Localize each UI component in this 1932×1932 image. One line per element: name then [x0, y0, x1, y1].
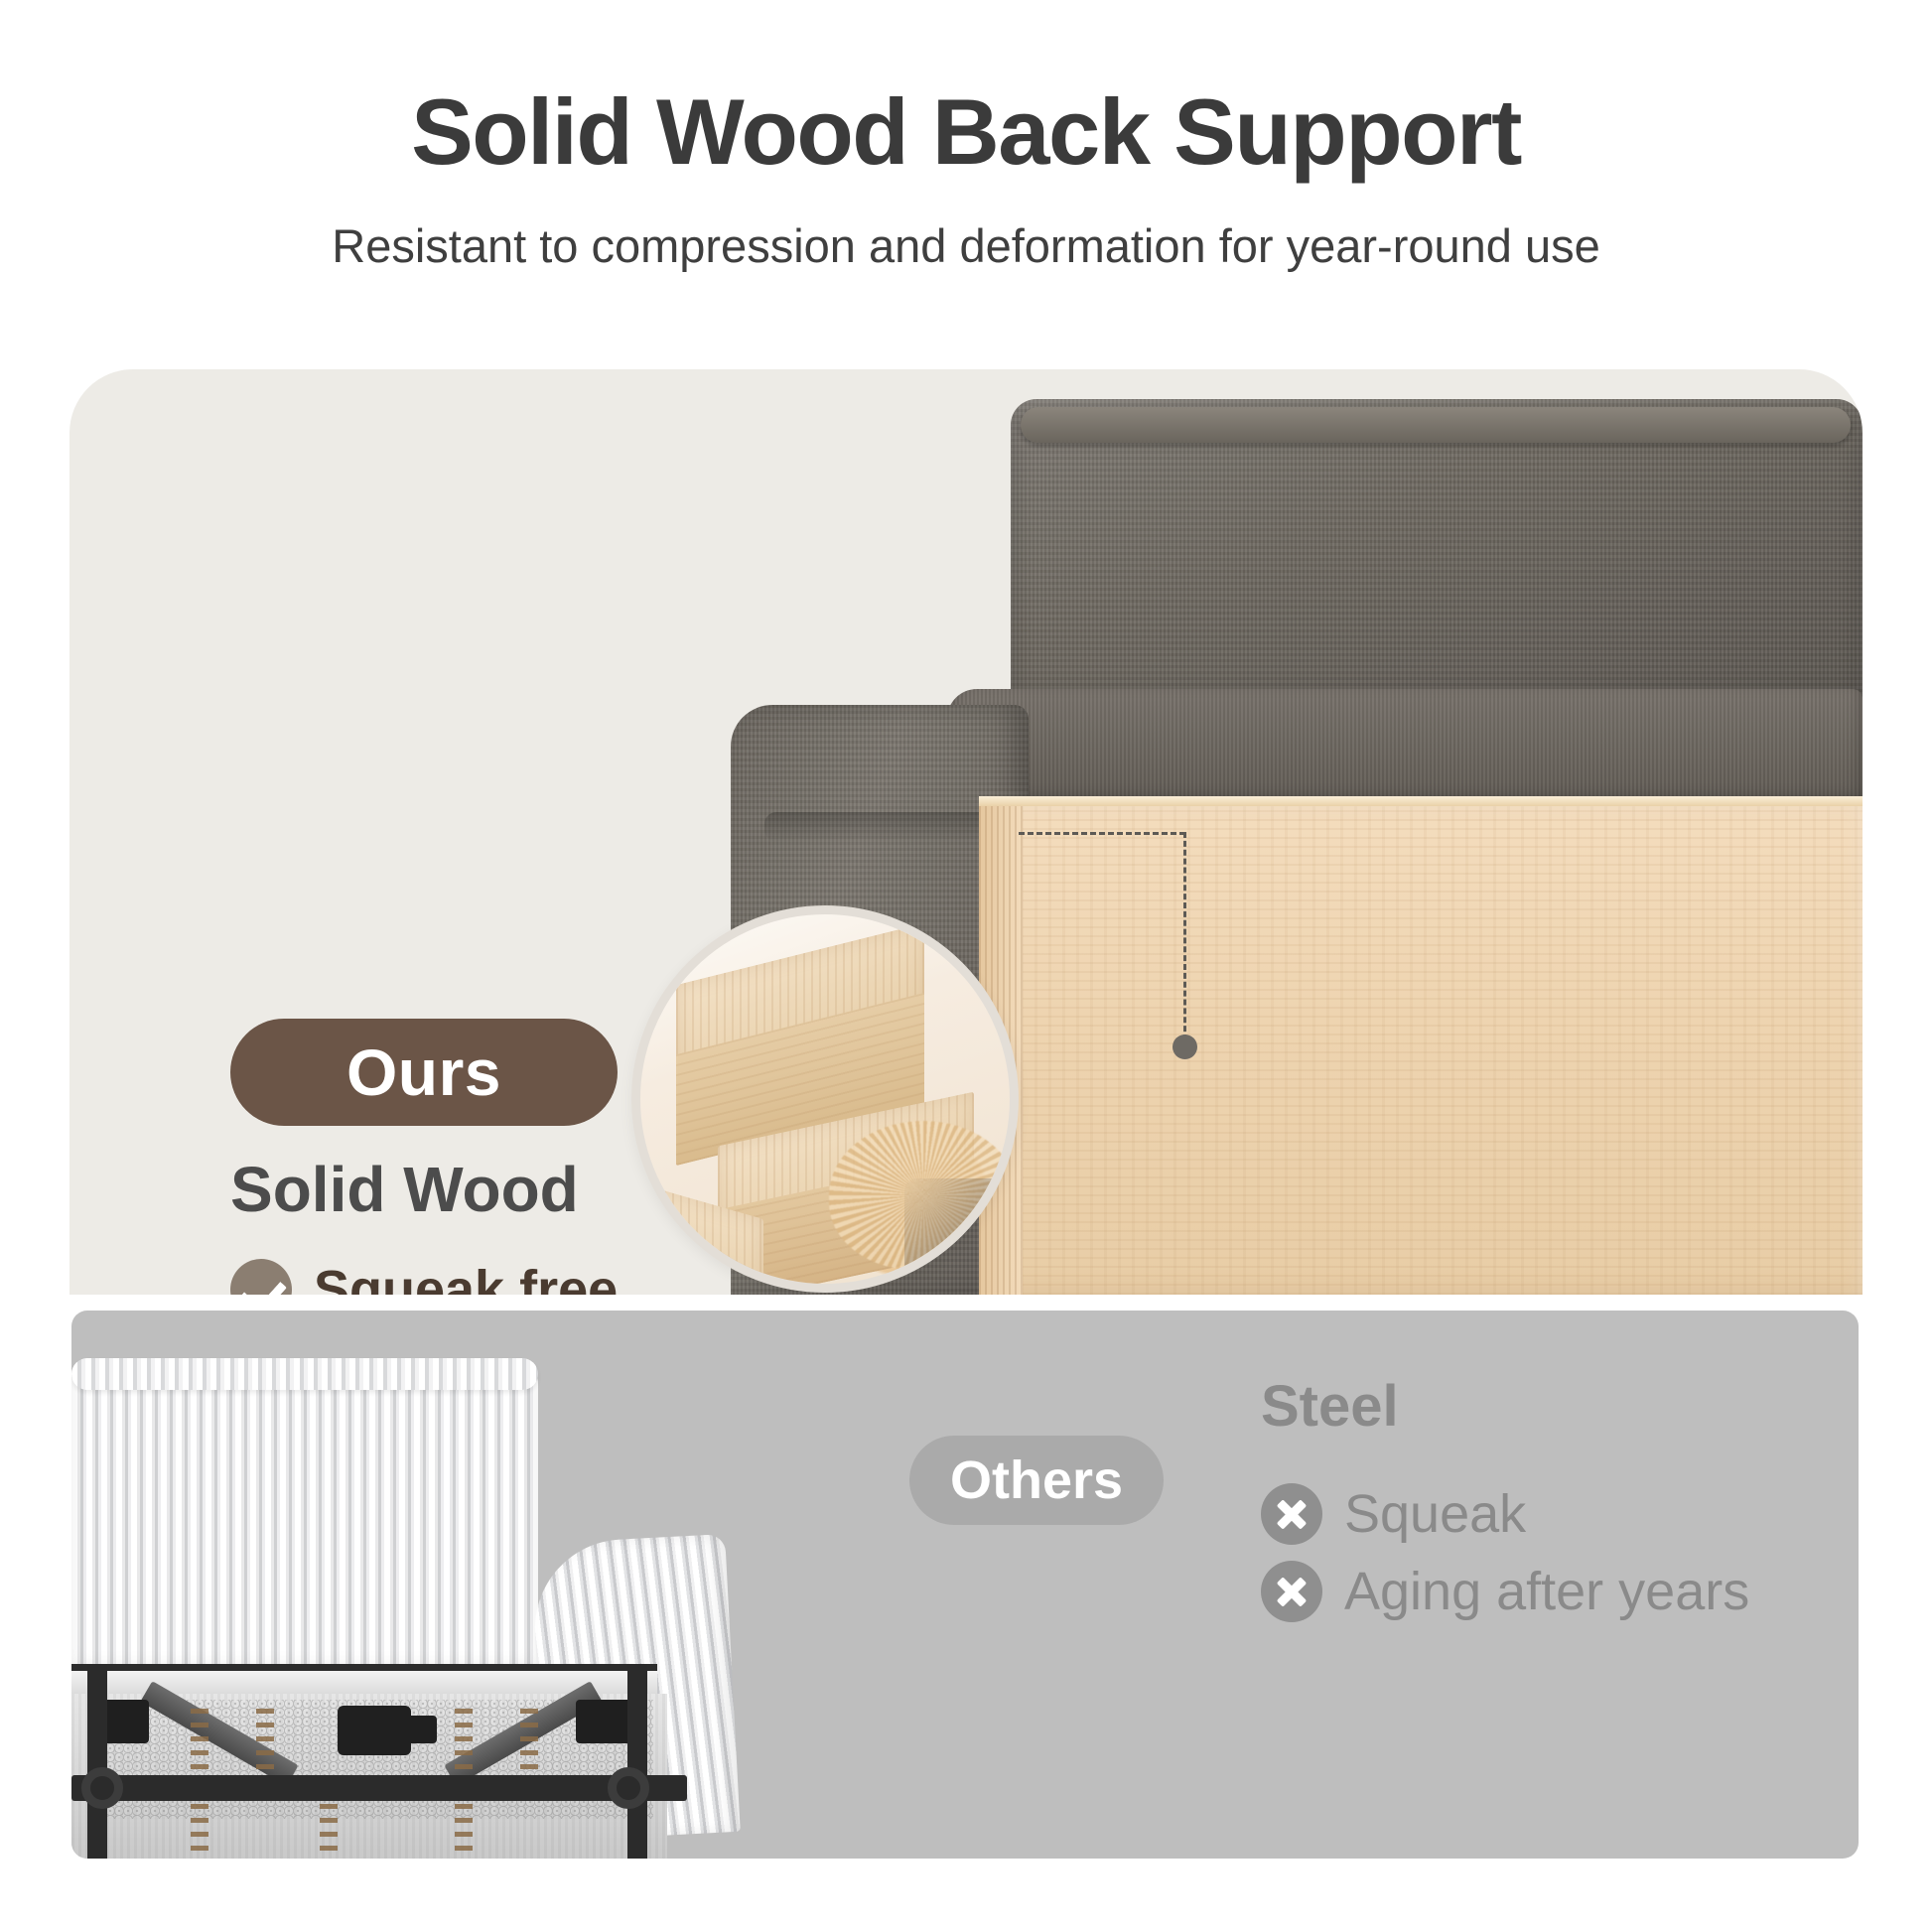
ours-material-label: Solid Wood [230, 1158, 697, 1221]
ours-feature-list: Squeak free Durable [230, 1259, 697, 1295]
inset-dark-corner-shadow [904, 1178, 1019, 1293]
page-subtitle: Resistant to compression and deformation… [0, 222, 1932, 269]
steel-bolt-right [608, 1767, 649, 1809]
ours-badge: Ours [230, 1019, 618, 1126]
others-feature-label: Squeak [1344, 1487, 1526, 1541]
cross-circle-icon [1261, 1561, 1322, 1622]
ours-text-block: Ours Solid Wood Squeak free Durable [230, 1019, 697, 1295]
sofa-steel-frame-photo [71, 1311, 896, 1859]
steel-horizontal-bar [71, 1775, 687, 1801]
wood-panel-callout [1019, 832, 1187, 1060]
steel-bolt-left [81, 1767, 123, 1809]
recliner-motor [338, 1706, 411, 1755]
check-circle-icon [230, 1259, 292, 1295]
callout-vertical-dashed-line [1183, 832, 1186, 1040]
sofa-seat-rail [947, 689, 1863, 808]
wood-panel-top-lip [979, 796, 1863, 806]
header: Solid Wood Back Support Resistant to com… [0, 0, 1932, 269]
page-title: Solid Wood Back Support [0, 85, 1932, 179]
serpentine-spring [191, 1803, 208, 1859]
cross-circle-icon [1261, 1483, 1322, 1545]
ours-panel: Ours Solid Wood Squeak free Durable [69, 369, 1863, 1295]
list-item: Squeak free [230, 1259, 697, 1295]
ours-feature-label: Squeak free [314, 1263, 618, 1295]
steel-bracket-right [576, 1700, 631, 1743]
callout-dot-marker [1173, 1035, 1197, 1059]
others-badge: Others [909, 1436, 1164, 1525]
steel-vertical-bar-right [627, 1664, 647, 1859]
serpentine-spring [320, 1803, 338, 1859]
others-feature-label: Aging after years [1344, 1565, 1749, 1618]
others-material-label: Steel [1261, 1378, 1817, 1436]
list-item: Squeak [1261, 1483, 1817, 1545]
corduroy-back-cushion [71, 1358, 538, 1676]
others-badge-wrap: Others [909, 1436, 1164, 1525]
list-item: Aging after years [1261, 1561, 1817, 1622]
infographic-page: Solid Wood Back Support Resistant to com… [0, 0, 1932, 1932]
steel-vertical-bar-left [87, 1664, 107, 1859]
others-text-block: Steel Squeak Aging after years [1261, 1378, 1817, 1638]
callout-horizontal-dashed-line [1019, 832, 1185, 835]
sofa-back-cushion [1011, 399, 1863, 707]
serpentine-spring [455, 1803, 473, 1859]
others-feature-list: Squeak Aging after years [1261, 1483, 1817, 1622]
